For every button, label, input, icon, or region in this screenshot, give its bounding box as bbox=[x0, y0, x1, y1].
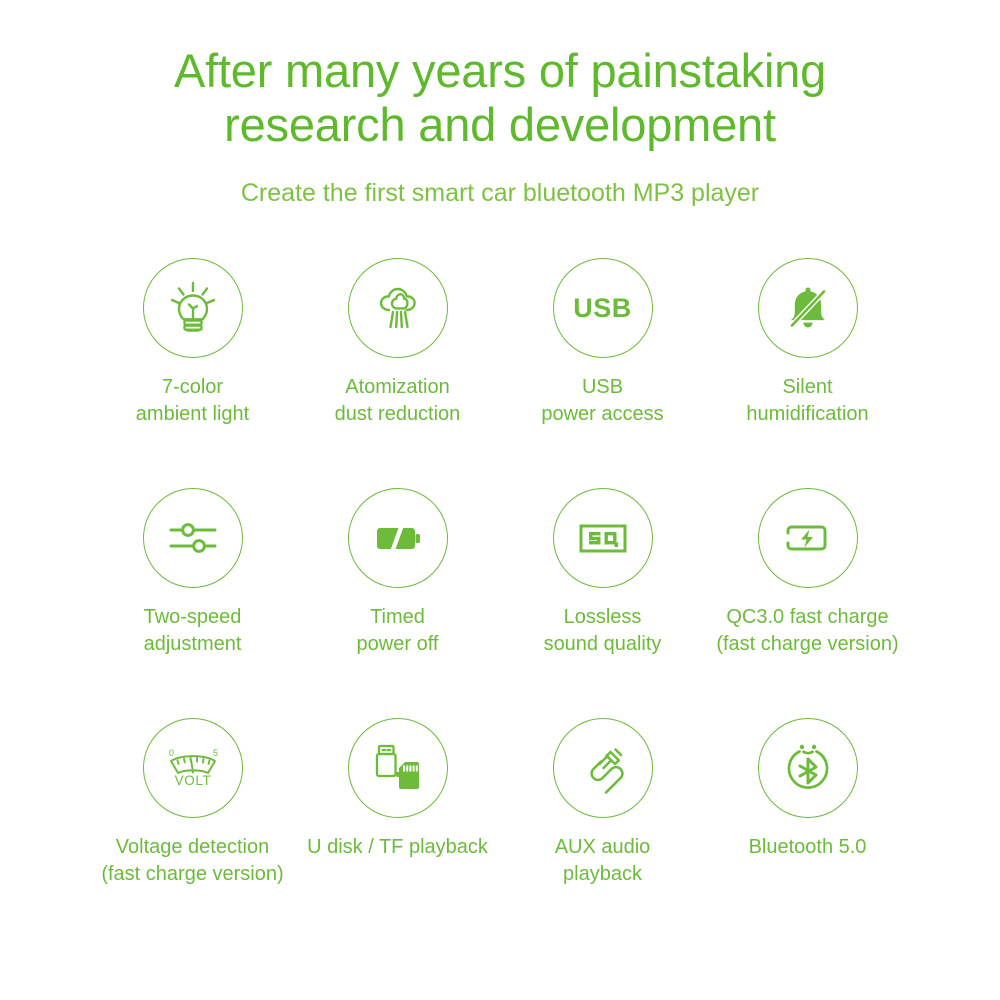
icon-circle bbox=[553, 718, 653, 818]
volt-text: VOLT bbox=[174, 773, 211, 788]
usb-drive-tf-card-icon bbox=[368, 739, 428, 797]
icon-circle bbox=[758, 488, 858, 588]
icon-circle: USB bbox=[553, 258, 653, 358]
sliders-icon bbox=[164, 509, 222, 567]
feature-row: Two-speed adjustment Timed power off bbox=[0, 488, 1000, 718]
feature-item-voltage-detection: 0 5 VOLT bbox=[90, 718, 295, 888]
feature-label: 7-color ambient light bbox=[136, 374, 249, 428]
feature-item-usb-power-access: USB USB power access bbox=[500, 258, 705, 428]
feature-label: AUX audio playback bbox=[555, 834, 651, 888]
feature-item-u-disk-tf-playback: U disk / TF playback bbox=[295, 718, 500, 861]
page-title: After many years of painstaking research… bbox=[120, 44, 880, 152]
battery-slash-icon bbox=[369, 509, 427, 567]
feature-item-7-color-ambient-light: 7-color ambient light bbox=[90, 258, 295, 428]
feature-grid: 7-color ambient light bbox=[0, 258, 1000, 948]
feature-label: QC3.0 fast charge (fast charge version) bbox=[700, 604, 915, 658]
feature-label: Bluetooth 5.0 bbox=[749, 834, 867, 861]
feature-item-aux-audio-playback: AUX audio playback bbox=[500, 718, 705, 888]
feature-row: 0 5 VOLT bbox=[0, 718, 1000, 948]
page-subtitle: Create the first smart car bluetooth MP3… bbox=[0, 178, 1000, 208]
feature-label: Atomization dust reduction bbox=[335, 374, 461, 428]
mist-spray-icon bbox=[369, 279, 427, 337]
feature-label: Two-speed adjustment bbox=[144, 604, 242, 658]
feature-label: Timed power off bbox=[357, 604, 439, 658]
icon-circle bbox=[758, 258, 858, 358]
feature-item-atomization-dust-reduction: Atomization dust reduction bbox=[295, 258, 500, 428]
icon-circle bbox=[348, 488, 448, 588]
feature-label: Voltage detection (fast charge version) bbox=[85, 834, 300, 888]
icon-circle bbox=[553, 488, 653, 588]
feature-item-timed-power-off: Timed power off bbox=[295, 488, 500, 658]
feature-label: U disk / TF playback bbox=[290, 834, 505, 861]
icon-circle bbox=[143, 258, 243, 358]
icon-circle bbox=[348, 258, 448, 358]
feature-item-two-speed-adjustment: Two-speed adjustment bbox=[90, 488, 295, 658]
header: After many years of painstaking research… bbox=[0, 0, 1000, 208]
usb-text-icon: USB bbox=[573, 293, 632, 324]
aux-jack-cable-icon bbox=[574, 739, 632, 797]
bell-muted-icon bbox=[779, 279, 837, 337]
feature-item-qc30-fast-charge: QC3.0 fast charge (fast charge version) bbox=[705, 488, 910, 658]
feature-label: USB power access bbox=[541, 374, 663, 428]
sq-badge-icon bbox=[574, 509, 632, 567]
bluetooth-smiley-icon bbox=[779, 739, 837, 797]
infographic-page: After many years of painstaking research… bbox=[0, 0, 1000, 1000]
gauge-min-label: 0 bbox=[169, 748, 174, 758]
feature-row: 7-color ambient light bbox=[0, 258, 1000, 488]
feature-label: Silent humidification bbox=[746, 374, 868, 428]
feature-item-lossless-sound-quality: Lossless sound quality bbox=[500, 488, 705, 658]
icon-circle: 0 5 VOLT bbox=[143, 718, 243, 818]
feature-item-silent-humidification: Silent humidification bbox=[705, 258, 910, 428]
lightbulb-icon bbox=[164, 279, 222, 337]
feature-label: Lossless sound quality bbox=[544, 604, 662, 658]
icon-circle bbox=[348, 718, 448, 818]
feature-item-bluetooth-50: Bluetooth 5.0 bbox=[705, 718, 910, 861]
gauge-max-label: 5 bbox=[213, 748, 218, 758]
icon-circle bbox=[758, 718, 858, 818]
battery-bolt-icon bbox=[779, 509, 837, 567]
icon-circle bbox=[143, 488, 243, 588]
voltmeter-gauge-icon: 0 5 VOLT bbox=[161, 739, 225, 797]
